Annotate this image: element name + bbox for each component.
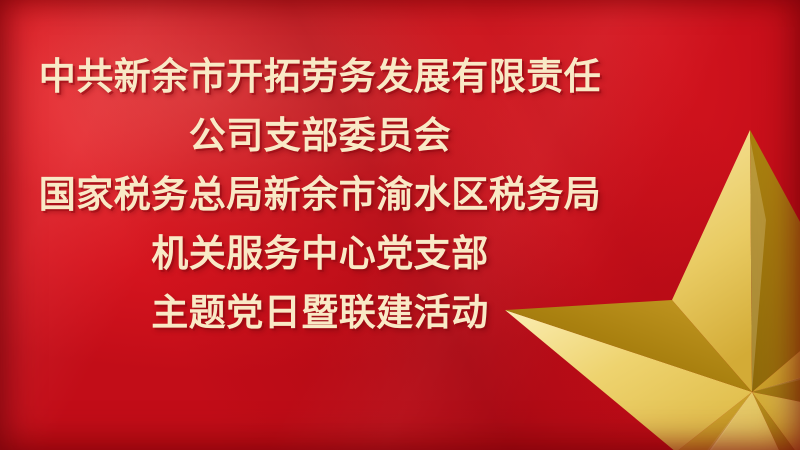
title-line-3: 国家税务总局新余市渝水区税务局 — [0, 165, 640, 224]
party-event-banner: 中共新余市开拓劳务发展有限责任 公司支部委员会 国家税务总局新余市渝水区税务局 … — [0, 0, 800, 450]
title-line-5: 主题党日暨联建活动 — [0, 283, 640, 342]
title-line-1: 中共新余市开拓劳务发展有限责任 — [0, 47, 640, 106]
title-line-4: 机关服务中心党支部 — [0, 224, 640, 283]
title-line-2: 公司支部委员会 — [0, 106, 640, 165]
banner-title-block: 中共新余市开拓劳务发展有限责任 公司支部委员会 国家税务总局新余市渝水区税务局 … — [0, 47, 640, 342]
